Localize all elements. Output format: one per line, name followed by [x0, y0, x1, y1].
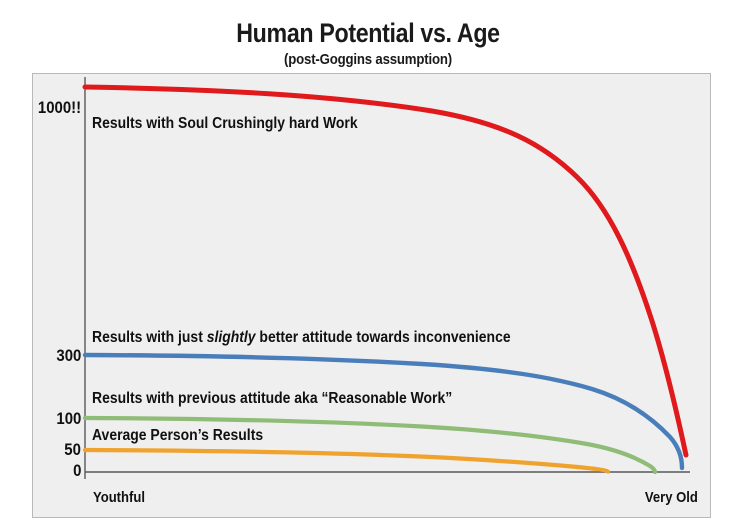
- series-annotation-orange: Average Person’s Results: [92, 427, 263, 444]
- chart-subtitle: (post-Goggins assumption): [44, 51, 692, 69]
- y-tick-label: 300: [56, 346, 81, 366]
- x-tick-label-very-old: Very Old: [645, 489, 698, 506]
- series-annotation-green-text: Results with previous attitude aka “Reas…: [92, 390, 452, 407]
- series-annotation-red-text: Results with Soul Crushingly hard Work: [92, 115, 358, 132]
- y-tick-label: 50: [64, 440, 81, 460]
- chart-title: Human Potential vs. Age: [52, 18, 685, 48]
- x-tick-label-youthful: Youthful: [93, 489, 145, 506]
- series-annotation-orange-text: Average Person’s Results: [92, 427, 263, 444]
- series-annotation-green: Results with previous attitude aka “Reas…: [92, 390, 452, 407]
- series-annotation-blue-after: better attitude towards inconvenience: [256, 329, 511, 346]
- plot-svg: [32, 73, 711, 518]
- series-annotation-blue-before: Results with just: [92, 329, 207, 346]
- series-line-orange: [85, 450, 608, 472]
- y-tick-label: 0: [73, 461, 81, 481]
- series-annotation-red: Results with Soul Crushingly hard Work: [92, 115, 358, 132]
- y-tick-label: 1000!!: [38, 98, 81, 118]
- series-annotation-blue-italic: slightly: [207, 329, 256, 346]
- y-tick-label: 100: [56, 409, 81, 429]
- chart-canvas: Human Potential vs. Age (post-Goggins as…: [0, 0, 736, 531]
- title-block: Human Potential vs. Age (post-Goggins as…: [0, 18, 736, 69]
- series-annotation-blue: Results with just slightly better attitu…: [92, 329, 511, 346]
